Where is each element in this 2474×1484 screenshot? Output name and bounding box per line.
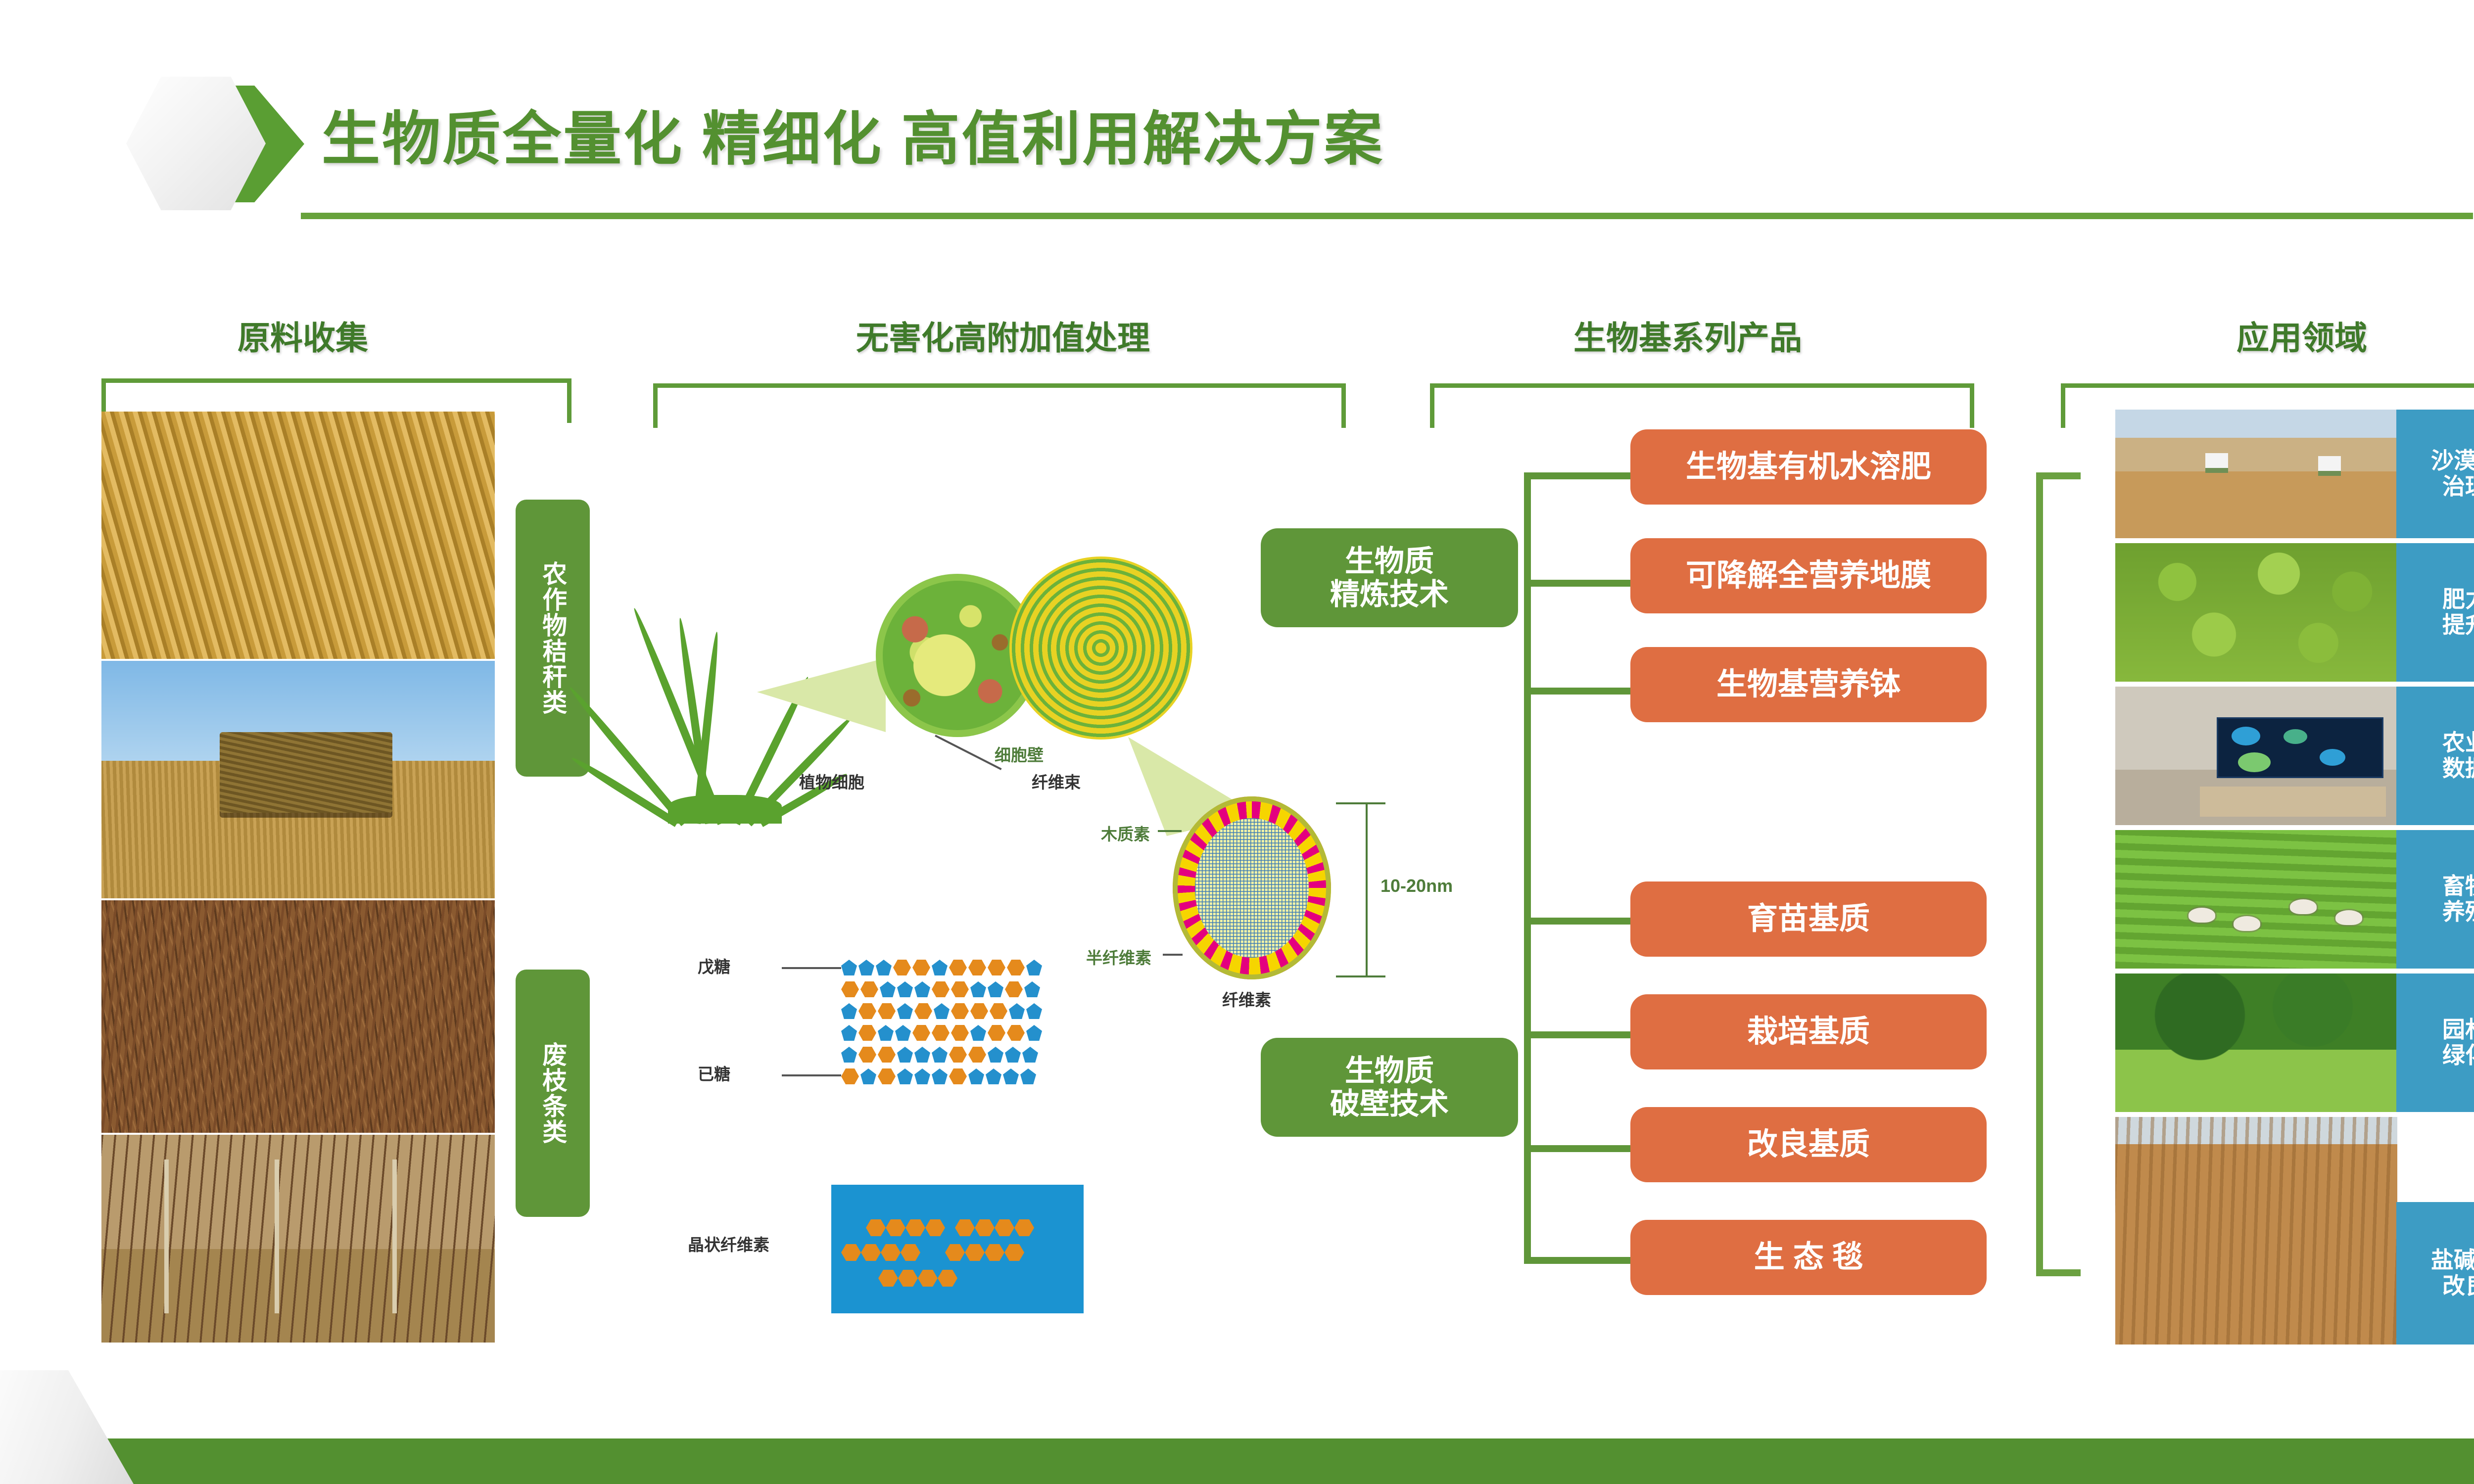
label-dimension: 10-20nm xyxy=(1380,876,1453,896)
dashboard-screen xyxy=(2217,717,2383,779)
hemicellulose-leader-line xyxy=(1163,954,1183,956)
label-plant-cell: 植物细胞 xyxy=(799,769,864,793)
product-card-seedling-substrate[interactable]: 育苗基质 xyxy=(1630,881,1987,957)
lignin-leader-line xyxy=(1158,830,1182,832)
app-line-2: 数据 xyxy=(2442,756,2474,782)
section-title-raw-material: 原料收集 xyxy=(238,312,368,359)
tech-line-1: 生物质 xyxy=(1345,545,1434,578)
dim-line-vertical xyxy=(1366,802,1368,977)
pentose-leader-line xyxy=(782,967,841,969)
park-greening-photo xyxy=(2115,974,2397,1112)
straw-bale xyxy=(220,732,393,813)
label-crystalline-cellulose: 晶状纤维素 xyxy=(688,1232,769,1255)
vineyard-pruning-photo xyxy=(101,1135,495,1343)
vine-post xyxy=(392,1159,397,1313)
application-label-desertification[interactable]: 沙漠化 治理 xyxy=(2396,410,2474,538)
app-line-1: 盐碱地 xyxy=(2431,1248,2474,1273)
fiber-bundle-diagram xyxy=(1009,556,1192,740)
app-line-2: 提升 xyxy=(2442,612,2474,638)
technology-card-refining[interactable]: 生物质 精炼技术 xyxy=(1261,528,1518,627)
bracket-processing xyxy=(653,383,1346,428)
label-hexose: 已糖 xyxy=(698,1061,730,1085)
cellulose-core xyxy=(1195,818,1309,957)
app-line-2: 治理 xyxy=(2442,474,2474,500)
app-line-1: 畜牧 xyxy=(2442,874,2474,899)
cellulose-cross-section-diagram xyxy=(1173,796,1331,979)
product-card-ecological-blanket[interactable]: 生 态 毯 xyxy=(1630,1220,1987,1295)
tech-line-2: 精炼技术 xyxy=(1330,578,1449,611)
product-card-improvement-substrate[interactable]: 改良基质 xyxy=(1630,1107,1987,1182)
category-tab-waste-branches[interactable]: 废枝条类 xyxy=(516,970,590,1217)
section-title-bio-products: 生物基系列产品 xyxy=(1573,312,1802,359)
app-line-1: 肥力 xyxy=(2442,587,2474,612)
saline-alkali-land-photo xyxy=(2115,1117,2397,1345)
app-line-1: 园林 xyxy=(2442,1017,2474,1043)
vine-post xyxy=(275,1159,279,1313)
product-card-nutrient-pot[interactable]: 生物基营养钵 xyxy=(1630,647,1987,722)
console-desk xyxy=(2200,787,2386,817)
label-fiber-bundle: 纤维束 xyxy=(1032,769,1081,793)
label-cell-wall: 细胞壁 xyxy=(995,742,1044,766)
product-card-water-soluble-fertilizer[interactable]: 生物基有机水溶肥 xyxy=(1630,429,1987,505)
technology-card-cellwall[interactable]: 生物质 破壁技术 xyxy=(1261,1038,1518,1137)
dim-tick-top xyxy=(1336,802,1385,804)
page-title: 生物质全量化 精细化 高值利用解决方案 xyxy=(322,92,1384,176)
title-underline-rule xyxy=(301,213,2473,219)
app-line-1: 农业 xyxy=(2442,730,2474,756)
hexagon-badge xyxy=(126,77,275,210)
app-line-2: 养殖 xyxy=(2442,899,2474,925)
application-label-landscaping[interactable]: 园林 绿化 xyxy=(2396,974,2474,1112)
tech-line-1: 生物质 xyxy=(1345,1054,1434,1087)
sheep-pasture-photo xyxy=(2115,830,2397,969)
tech-line-2: 破壁技术 xyxy=(1330,1087,1449,1120)
straw-bale-field-photo xyxy=(101,661,495,898)
pruned-branches-pile-photo xyxy=(101,900,495,1133)
section-title-applications: 应用领域 xyxy=(2236,312,2367,359)
label-cellulose: 纤维素 xyxy=(1222,987,1271,1011)
corn-stalk-field-photo xyxy=(101,412,495,659)
connector-trunk-cellwall xyxy=(1524,918,1531,1264)
desert-control-photo xyxy=(2115,410,2397,538)
app-line-2: 改良 xyxy=(2442,1273,2474,1299)
section-title-processing: 无害化高附加值处理 xyxy=(856,312,1150,359)
application-label-agri-data[interactable]: 农业 数据 xyxy=(2396,687,2474,825)
agri-data-control-room-photo xyxy=(2115,687,2397,825)
application-label-saline-alkali[interactable]: 盐碱地 改良 xyxy=(2396,1202,2474,1345)
sugar-chain-diagram xyxy=(841,960,1158,1123)
crystalline-cellulose-diagram xyxy=(831,1185,1084,1313)
footer-wedge-decoration xyxy=(0,1370,134,1484)
vine-post xyxy=(164,1159,169,1313)
application-label-fertility[interactable]: 肥力 提升 xyxy=(2396,543,2474,682)
cell-wall-leader-line xyxy=(935,735,1001,770)
cabbage-field-photo xyxy=(2115,543,2397,682)
category-tab-crop-straw[interactable]: 农作物秸秆类 xyxy=(516,500,590,777)
label-pentose: 戊糖 xyxy=(698,954,730,977)
hexose-leader-line xyxy=(782,1074,841,1076)
dim-tick-bottom xyxy=(1336,975,1385,977)
app-line-1: 沙漠化 xyxy=(2431,448,2474,474)
app-line-2: 绿化 xyxy=(2442,1043,2474,1068)
bracket-to-applications xyxy=(2036,472,2081,1276)
product-card-biodegradable-mulch-film[interactable]: 可降解全营养地膜 xyxy=(1630,538,1987,613)
footer-bar xyxy=(0,1438,2474,1484)
product-card-cultivation-substrate[interactable]: 栽培基质 xyxy=(1630,994,1987,1069)
label-lignin: 木质素 xyxy=(1101,821,1150,845)
bracket-bio-products xyxy=(1430,383,1974,428)
application-label-livestock[interactable]: 畜牧 养殖 xyxy=(2396,830,2474,969)
